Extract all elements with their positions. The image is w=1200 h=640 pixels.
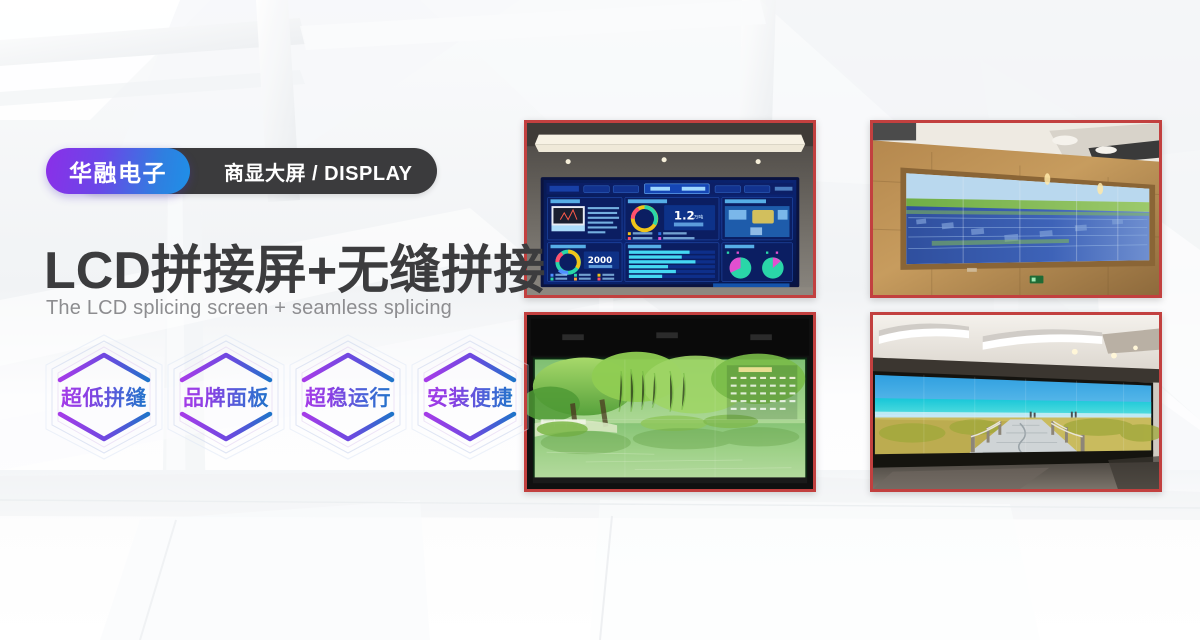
photo-solar-farm-video-wall <box>870 120 1162 298</box>
feature-badge-label: 品牌面板 <box>183 382 269 412</box>
photo-willow-lake-video-wall <box>524 312 816 492</box>
brand-badge: 华融电子 <box>46 148 190 194</box>
feature-badge-label: 超稳运行 <box>305 382 391 412</box>
feature-badge-0: 超低拼缝 <box>44 333 164 461</box>
page-subtitle: The LCD splicing screen + seamless splic… <box>46 297 452 320</box>
feature-badge-3: 安装便捷 <box>410 333 530 461</box>
svg-text:万吨: 万吨 <box>694 214 704 221</box>
photo-beach-boardwalk-video-wall <box>870 312 1162 492</box>
product-banner: 商显大屏 / DISPLAY 华融电子 LCD拼接屏+无缝拼接 The LCD … <box>0 0 1200 640</box>
feature-badge-row: 超低拼缝 品牌面板 <box>44 333 530 461</box>
feature-badge-label: 安装便捷 <box>427 382 513 412</box>
feature-badge-2: 超稳运行 <box>288 333 408 461</box>
svg-text:2000: 2000 <box>588 256 613 266</box>
photo-dashboard-video-wall: 1.2 万吨 <box>524 120 816 298</box>
feature-badge-1: 品牌面板 <box>166 333 286 461</box>
page-title: LCD拼接屏+无缝拼接 <box>44 228 545 303</box>
brand-badge-group: 商显大屏 / DISPLAY 华融电子 <box>46 148 190 194</box>
product-photo-grid: 1.2 万吨 <box>524 120 1162 492</box>
svg-text:1.2: 1.2 <box>674 209 695 223</box>
feature-badge-label: 超低拼缝 <box>61 382 147 412</box>
